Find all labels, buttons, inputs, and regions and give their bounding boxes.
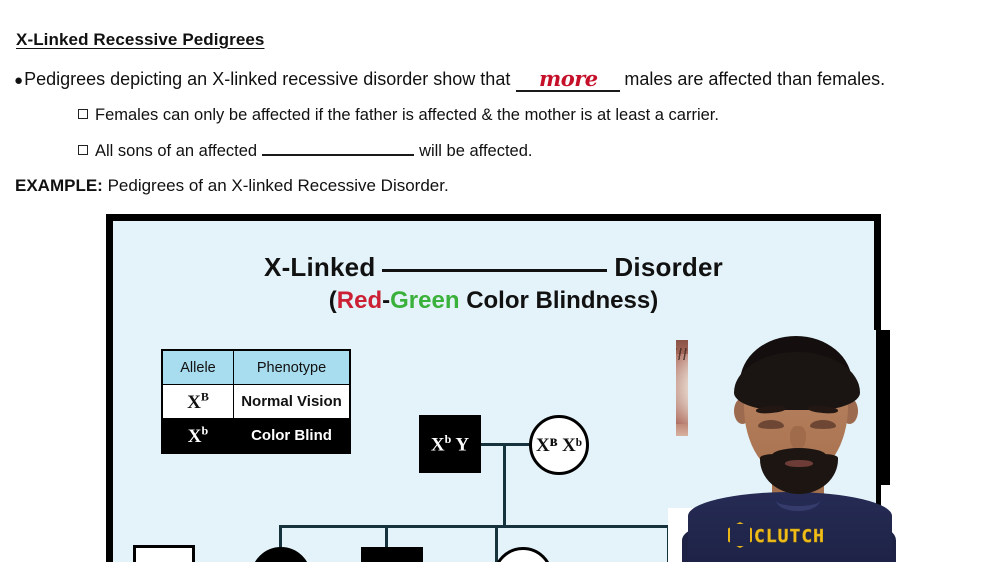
pedigree-child-unaffected-son[interactable] [133, 545, 195, 562]
mother-genotype: Xᴮ Xᵇ [536, 436, 582, 455]
square-bullet-icon [78, 145, 88, 155]
bullet-dot-icon: ● [14, 73, 23, 88]
page-title: X-Linked Recessive Pedigrees [16, 30, 264, 50]
eye-right-closed [810, 420, 836, 429]
clutch-brand-text: CLUTCH [754, 526, 825, 547]
example-label: EXAMPLE: [15, 176, 103, 195]
sub-bullet-2-text-after: will be affected. [419, 142, 532, 161]
bullet-text-after: males are affected than females. [624, 69, 885, 90]
example-line: EXAMPLE: Pedigrees of an X-linked Recess… [15, 176, 449, 196]
video-bg-white [890, 330, 938, 562]
pedigree-child-affected-son[interactable] [361, 547, 423, 562]
pedigree-mother-carrier[interactable]: Xᴮ Xᵇ [529, 415, 589, 475]
handwritten-answer: more [539, 66, 598, 91]
sub-bullet-2-text-before: All sons of an affected [95, 142, 257, 161]
father-genotype: Xb Y [431, 433, 469, 454]
eye-left-closed [758, 420, 784, 429]
fill-in-blank-answered[interactable]: more [516, 65, 620, 92]
video-bg-frame-edge [876, 330, 890, 485]
descent-line [503, 443, 506, 527]
fill-in-blank-empty[interactable] [262, 154, 414, 156]
main-bullet-point: ● Pedigrees depicting an X-linked recess… [14, 65, 885, 92]
sub-bullet-2: All sons of an affected will be affected… [78, 142, 533, 161]
pedigree-child-affected-daughter[interactable] [251, 547, 311, 562]
example-text: Pedigrees of an X-linked Recessive Disor… [108, 176, 449, 195]
pedigree-father-affected[interactable]: Xb Y [419, 415, 481, 473]
pedigree-child-unaffected-daughter[interactable] [493, 547, 553, 562]
instructor-video-overlay[interactable]: CLUTCH [668, 330, 938, 562]
nose [790, 426, 806, 450]
drop-line-child-3 [495, 525, 498, 562]
bullet-text-before: Pedigrees depicting an X-linked recessiv… [24, 69, 510, 90]
mouth [785, 460, 813, 467]
square-bullet-icon [78, 109, 88, 119]
sibship-line [279, 525, 669, 528]
sub-bullet-1: Females can only be affected if the fath… [78, 106, 719, 125]
sub-bullet-1-text: Females can only be affected if the fath… [95, 106, 719, 125]
